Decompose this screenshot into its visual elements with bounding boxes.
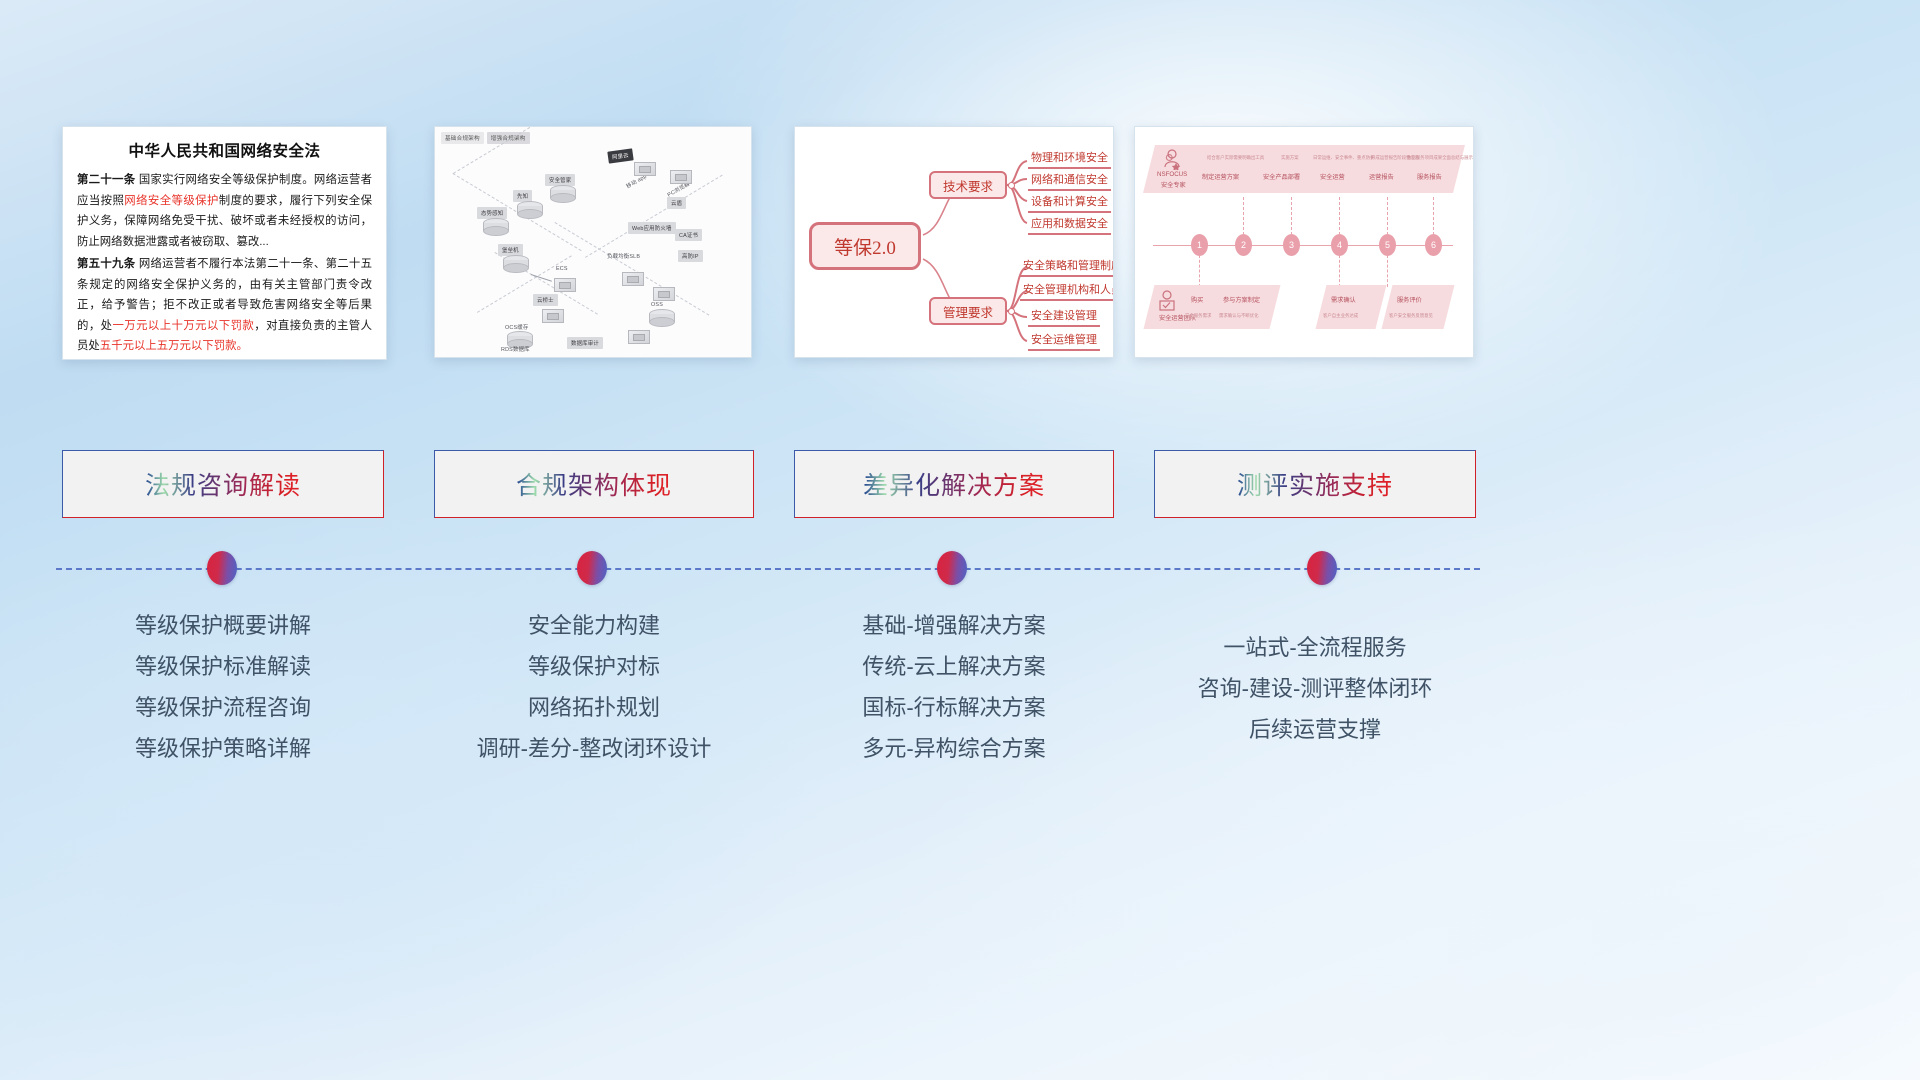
icon-server-ecs: [551, 273, 579, 295]
mindmap-branch-technical: 技术要求: [929, 171, 1007, 199]
top-step-3: 安全运营: [1320, 172, 1345, 181]
card-mindmap-dengbao: 等保2.0 技术要求 管理要求 物理和环境安全: [794, 126, 1114, 358]
article-21-highlight: 网络安全等级保护: [124, 195, 219, 207]
expert-label-line1: NSFOCUS: [1157, 171, 1187, 178]
list-item: 传统-云上解决方案: [794, 646, 1114, 687]
mindmap-dot-technical: [1008, 182, 1015, 189]
node-label-slb: 负载均衡SLB: [603, 250, 644, 262]
node-label-waf: Web应用防火墙: [628, 222, 676, 234]
timeline-node-4: 4: [1331, 234, 1348, 256]
architecture-tab-enhanced: 增强合规架构: [487, 132, 530, 144]
bottom-step-2: 参与方案制定: [1223, 295, 1260, 304]
connector-top-3: [1291, 197, 1292, 235]
connector-top-6: [1433, 197, 1434, 235]
timeline-marker-4[interactable]: [1307, 551, 1337, 585]
bottom-step-1: 购买: [1191, 295, 1203, 304]
article-59-highlight-1: 一万元以上十万元以下罚款: [112, 320, 254, 332]
icon-cylinder-4: [503, 255, 529, 271]
poster-canvas: 中华人民共和国网络安全法 第二十一条 国家实行网络安全等级保护制度。网络运营者应…: [0, 0, 1920, 1080]
bottom-banner-mid: [1316, 285, 1387, 329]
timeline-node-6: 6: [1425, 234, 1442, 256]
top-caption-1: 结合客户实际需要明确出工具: [1207, 155, 1264, 161]
card-service-timeline: ⚪ NSFOCUS 安全专家 结合客户实际需要明确出工具 实施方案 日常运维、安…: [1134, 126, 1474, 358]
title-box-solution[interactable]: 差异化解决方案: [794, 450, 1114, 518]
list-item: 多元-异构综合方案: [794, 728, 1114, 769]
icon-server-vpc: [625, 325, 653, 347]
top-caption-5: 数据服务项目成果全面总结与展示: [1407, 155, 1473, 161]
bottom-step-4: 服务评价: [1397, 295, 1422, 304]
mindmap-leaf-policy: 安全策略和管理制度: [1020, 257, 1114, 277]
timeline-dashed-line: [56, 568, 1480, 570]
list-item: 等级保护概要讲解: [62, 605, 384, 646]
mindmap: 等保2.0 技术要求 管理要求 物理和环境安全: [795, 127, 1113, 357]
top-step-2: 安全产品部署: [1263, 172, 1300, 181]
timeline-node-2: 2: [1235, 234, 1252, 256]
mindmap-leaf-ops: 安全运维管理: [1028, 331, 1100, 351]
node-label-yundun: 云盾: [667, 197, 686, 209]
title-box-row: 法规咨询解读 合规架构体现 差异化解决方案 测评实施支持: [0, 450, 1920, 520]
connector-top-2: [1243, 197, 1244, 235]
list-item: 调研-差分-整改闭环设计: [434, 728, 754, 769]
list-item: 网络拓扑规划: [434, 687, 754, 728]
connector-bottom-4: [1339, 255, 1340, 287]
timeline-node-5: 5: [1379, 234, 1396, 256]
node-label-rds: RDS数据库: [497, 343, 534, 355]
law-article-21: 第二十一条 国家实行网络安全等级保护制度。网络运营者应当按照网络安全等级保护制度…: [77, 170, 372, 252]
mindmap-leaf-org: 安全管理机构和人员: [1020, 281, 1114, 301]
article-59-label: 第五十九条: [77, 258, 135, 270]
list-item: 安全能力构建: [434, 605, 754, 646]
title-label-regulation: 法规咨询解读: [145, 466, 301, 502]
mindmap-leaf-application: 应用和数据安全: [1028, 215, 1111, 235]
feature-list-regulation: 等级保护概要讲解 等级保护标准解读 等级保护流程咨询 等级保护策略详解: [62, 605, 384, 769]
icon-cylinder-oss: [649, 309, 675, 325]
timeline-marker-2[interactable]: [577, 551, 607, 585]
node-label-aliyun: 阿里云: [607, 148, 633, 163]
list-item: 一站式-全流程服务: [1154, 627, 1476, 668]
icon-server-shield: [539, 304, 567, 326]
expert-avatar-icon: [1161, 148, 1183, 170]
top-caption-3: 日常运维、安全事件、重点防护: [1313, 155, 1374, 161]
mindmap-leaf-physical: 物理和环境安全: [1028, 149, 1111, 169]
expert-label-line2: 安全专家: [1161, 180, 1186, 189]
mindmap-leaf-construction: 安全建设管理: [1028, 307, 1100, 327]
mindmap-branch-management: 管理要求: [929, 297, 1007, 325]
mindmap-leaf-device: 设备和计算安全: [1028, 193, 1111, 213]
timeline-marker-3[interactable]: [937, 551, 967, 585]
bottom-banner-right: [1382, 285, 1455, 329]
feature-list-evaluation: 一站式-全流程服务 咨询-建设-测评整体闭环 后续运营支撑: [1154, 627, 1476, 750]
top-step-5: 服务报告: [1417, 172, 1442, 181]
node-label-ca-cert: CA证书: [675, 229, 702, 241]
connector-bottom-1: [1199, 255, 1200, 287]
title-label-architecture: 合规架构体现: [516, 466, 672, 502]
mindmap-leaf-network: 网络和通信安全: [1028, 171, 1111, 191]
timeline-node-3: 3: [1283, 234, 1300, 256]
connector-top-5: [1387, 197, 1388, 235]
law-title: 中华人民共和国网络安全法: [77, 139, 372, 161]
bottom-caption-3: 客户自主业务达成: [1323, 313, 1358, 319]
top-step-4: 运营报告: [1369, 172, 1394, 181]
card-cybersecurity-law: 中华人民共和国网络安全法 第二十一条 国家实行网络安全等级保护制度。网络运营者应…: [62, 126, 387, 360]
list-item: 咨询-建设-测评整体闭环: [1154, 668, 1476, 709]
title-label-evaluation: 测评实施支持: [1237, 466, 1393, 502]
timeline-infographic: ⚪ NSFOCUS 安全专家 结合客户实际需要明确出工具 实施方案 日常运维、安…: [1135, 127, 1473, 357]
top-step-1: 制定运营方案: [1202, 172, 1239, 181]
law-article-59: 第五十九条 网络运营者不履行本法第二十一条、第二十五条规定的网络安全保护义务的，…: [77, 254, 372, 357]
connector-top-4: [1339, 197, 1340, 235]
node-label-db-audit: 数据库审计: [567, 337, 603, 349]
title-box-evaluation[interactable]: 测评实施支持: [1154, 450, 1476, 518]
list-item: 基础-增强解决方案: [794, 605, 1114, 646]
timeline-marker-1[interactable]: [207, 551, 237, 585]
customer-avatar-icon: [1157, 289, 1177, 311]
connector-bottom-5: [1387, 255, 1388, 287]
list-item: 等级保护标准解读: [62, 646, 384, 687]
list-item: 后续运营支撑: [1154, 709, 1476, 750]
icon-device-mobile: [631, 157, 659, 179]
card-compliance-architecture: 基础合规架构 增强合规架构 阿里云 安全管家 先知 态势感知: [434, 126, 752, 358]
node-label-anti-ddos: 高防IP: [678, 250, 703, 262]
bottom-caption-1: 安全服务需求: [1185, 313, 1211, 319]
icon-device-pc: [667, 165, 695, 187]
top-caption-2: 实施方案: [1281, 155, 1299, 161]
bottom-caption-4: 客户安全服务反馈意见: [1389, 313, 1433, 319]
list-item: 等级保护对标: [434, 646, 754, 687]
article-21-label: 第二十一条: [77, 174, 135, 186]
law-content: 中华人民共和国网络安全法 第二十一条 国家实行网络安全等级保护制度。网络运营者应…: [63, 127, 386, 360]
top-banner: [1143, 145, 1465, 193]
region-line-3: [585, 175, 723, 258]
timeline-node-1: 1: [1191, 234, 1208, 256]
list-item: 等级保护流程咨询: [62, 687, 384, 728]
bottom-caption-2: 需求确认与不断优化: [1219, 313, 1259, 319]
title-box-regulation[interactable]: 法规咨询解读: [62, 450, 384, 518]
icon-cylinder-1: [550, 185, 576, 201]
mindmap-dot-management: [1008, 308, 1015, 315]
architecture-tab-basic: 基础合规架构: [441, 132, 484, 144]
icon-server-slb: [619, 267, 647, 289]
article-59-highlight-2: 五千元以上五万元以下罚款。: [100, 340, 248, 352]
title-box-architecture[interactable]: 合规架构体现: [434, 450, 754, 518]
feature-list-architecture: 安全能力构建 等级保护对标 网络拓扑规划 调研-差分-整改闭环设计: [434, 605, 754, 769]
title-label-solution: 差异化解决方案: [863, 466, 1045, 502]
list-item: 等级保护策略详解: [62, 728, 384, 769]
feature-list-solution: 基础-增强解决方案 传统-云上解决方案 国标-行标解决方案 多元-异构综合方案: [794, 605, 1114, 769]
image-card-row: 中华人民共和国网络安全法 第二十一条 国家实行网络安全等级保护制度。网络运营者应…: [0, 126, 1920, 362]
list-item: 国标-行标解决方案: [794, 687, 1114, 728]
architecture-diagram: 基础合规架构 增强合规架构 阿里云 安全管家 先知 态势感知: [435, 127, 751, 357]
icon-cylinder-2: [517, 201, 543, 217]
icon-cylinder-3: [483, 218, 509, 234]
bottom-step-3: 需求确认: [1331, 295, 1356, 304]
